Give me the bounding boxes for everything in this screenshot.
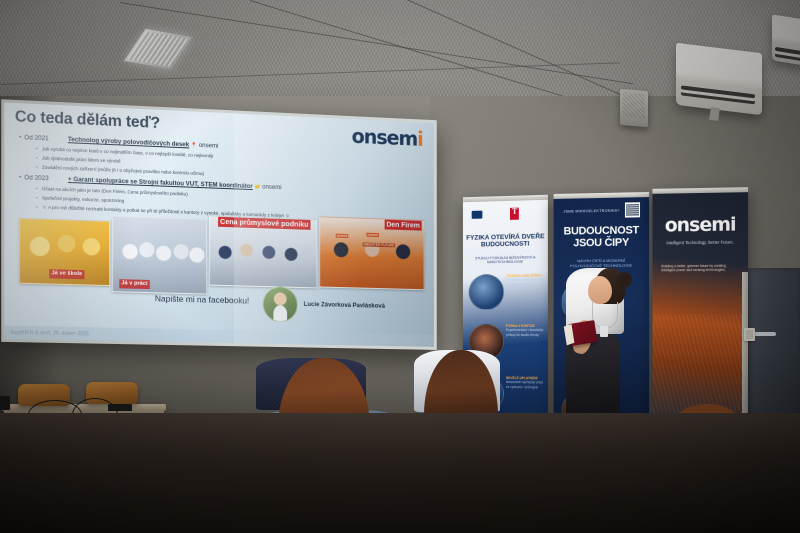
bullet-secondary: ▪Společné projekty, exkurze, sponzoring bbox=[36, 195, 124, 203]
qr-code bbox=[625, 202, 640, 217]
notebook-pages bbox=[564, 324, 575, 346]
banner-body-text: Building a better, greener future by cre… bbox=[661, 264, 739, 273]
bullet-company: onsemi bbox=[262, 183, 281, 191]
banner-headline: FYZIKA OTEVÍRÁ DVEŘE BUDOUCNOSTI bbox=[463, 233, 548, 249]
air-conditioner-unit bbox=[676, 43, 762, 116]
banner-tagline: Intelligent Technology. Better Future. bbox=[652, 239, 748, 245]
photo-tag: onsemi bbox=[336, 234, 348, 238]
onsemi-logo: onsemi bbox=[352, 124, 423, 151]
presenter-face bbox=[588, 276, 612, 304]
slide-title: Co teda dělám teď? bbox=[15, 108, 160, 133]
eu-logo bbox=[472, 211, 483, 219]
banner-photo-circle bbox=[469, 274, 504, 310]
bullet-text: Společné projekty, exkurze, sponzoring bbox=[42, 195, 124, 203]
bullet-secondary: ▪Zavádění nových zařízení (může jít i o … bbox=[36, 164, 204, 176]
bullet-company: onsemi bbox=[199, 142, 219, 150]
wall-speaker bbox=[620, 89, 648, 127]
banner-section-text: Experimentální i teoretický přístup ke s… bbox=[506, 328, 543, 336]
bullet-label: Od 2023 bbox=[24, 174, 68, 183]
banner-top-bar bbox=[652, 187, 748, 194]
onsemi-logo: onsemi bbox=[652, 213, 748, 236]
photo-caption: Cena průmyslové podniku bbox=[218, 216, 310, 230]
name-badge bbox=[600, 326, 608, 337]
facebook-call-to-action: Napište mi na facebooku! bbox=[155, 293, 249, 305]
air-conditioner-unit bbox=[772, 14, 800, 67]
projection-screen: Co teda dělám teď? onsemi •Od 2021Techno… bbox=[1, 99, 437, 350]
logo-text: onsem bbox=[352, 124, 418, 151]
slide-photo-work: Já v práci bbox=[112, 217, 207, 294]
ac-vent bbox=[681, 85, 755, 98]
vut-logo-letter: T bbox=[512, 207, 517, 216]
lanyard bbox=[592, 302, 618, 329]
banner-headline: BUDOUCNOST JSOU ČIPY bbox=[554, 224, 649, 250]
banner-section-text: Fyzikální principy a využití v nejmodern… bbox=[506, 278, 543, 291]
banner-section: FYZIKA V KOSTCE Experimentální i teoreti… bbox=[506, 324, 544, 337]
presentation-slide: Co teda dělám teď? onsemi •Od 2021Techno… bbox=[4, 102, 434, 347]
bullet-text: Zavádění nových zařízení (může jít i o o… bbox=[42, 165, 204, 177]
slide-photo-school: Já ve škole bbox=[19, 218, 110, 286]
door-handle[interactable] bbox=[754, 332, 776, 336]
photo-caption: Já ve škole bbox=[49, 269, 84, 279]
floor bbox=[0, 413, 800, 533]
presenter-hair-bun bbox=[616, 272, 632, 288]
presenter-name: Lucie Závorková Pavlásková bbox=[304, 301, 385, 310]
banner-top-bar bbox=[554, 192, 649, 199]
presenter-avatar bbox=[263, 286, 298, 323]
slide-photo-jobfair: Den Firem onsemi onsemi BRIGHTER FUTURE bbox=[319, 216, 424, 290]
logo-accent-dot: i bbox=[417, 127, 422, 151]
banner-subhead: STUDUJ FYZIKÁLNÍ INŽENÝRSTVÍ A NANOTECHN… bbox=[463, 255, 548, 265]
handshake-icon: 🤝 bbox=[254, 184, 260, 190]
photo-tag: BRIGHTER FUTURE bbox=[363, 242, 396, 247]
ac-vent bbox=[775, 47, 800, 57]
slide-photo-award: Cena průmyslové podniku bbox=[209, 215, 317, 288]
photo-tag: onsemi bbox=[366, 233, 378, 237]
light-switch[interactable] bbox=[744, 328, 755, 341]
bullet-text: Jak zjednodušit práci lidem ve výrobě bbox=[42, 155, 121, 163]
photo-caption: Já v práci bbox=[119, 279, 149, 289]
bullet-text: Účast na akcích jako je tato (Den Firem,… bbox=[42, 186, 188, 197]
screenshot-root: Co teda dělám teď? onsemi •Od 2021Techno… bbox=[0, 0, 800, 533]
banner-section: TECHNOLOGIE ZÍTŘKA Fyzikální principy a … bbox=[506, 274, 544, 292]
bullet-label: Od 2021 bbox=[24, 134, 68, 143]
pin-icon: 📍 bbox=[191, 142, 197, 148]
bullet-heading: Technolog výroby polovodičových desek bbox=[68, 136, 189, 148]
photo-caption: Den Firem bbox=[385, 219, 422, 231]
notebook bbox=[568, 320, 597, 346]
av-device bbox=[0, 396, 10, 410]
bullet-secondary: ▪Jak zjednodušit práci lidem ve výrobě bbox=[36, 155, 121, 164]
